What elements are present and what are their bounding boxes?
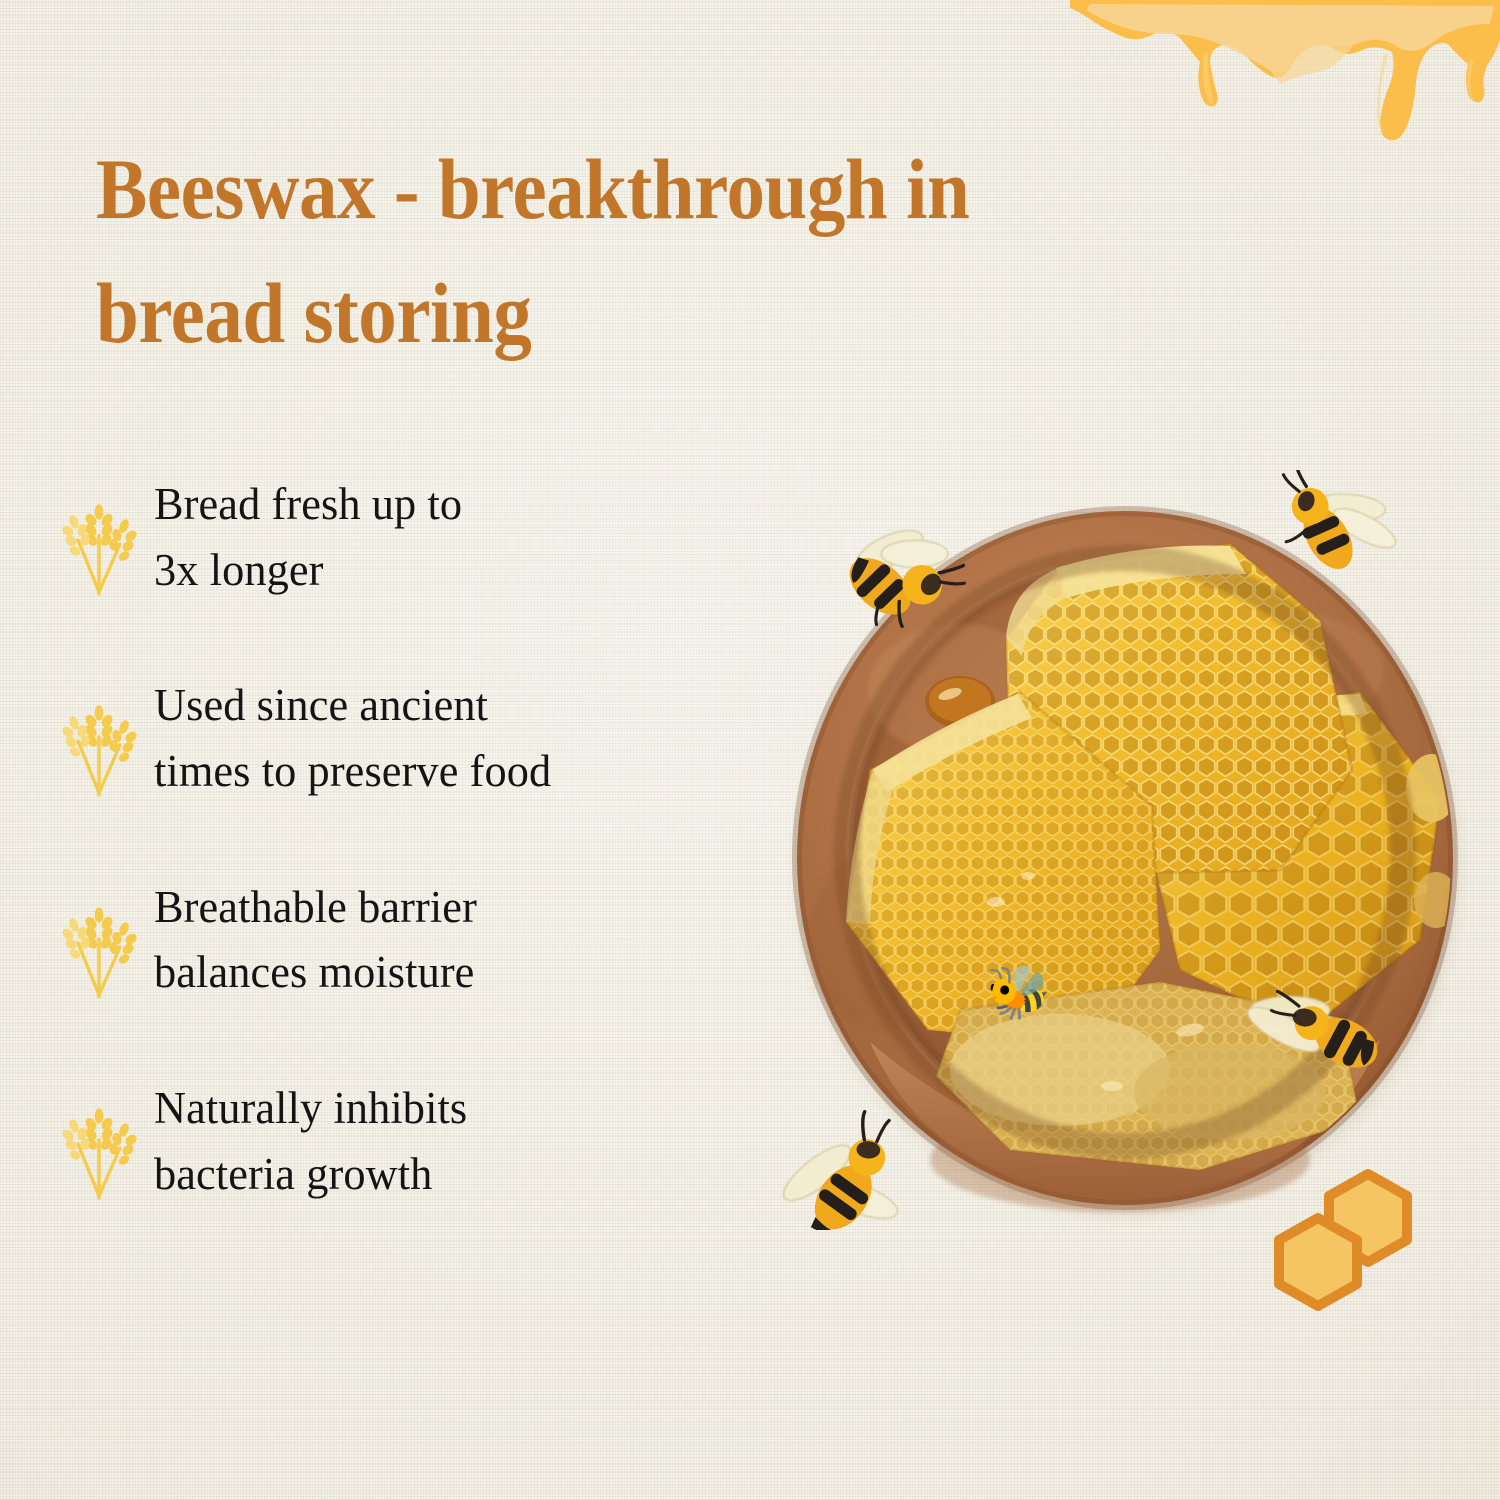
list-item-line: Naturally inhibits — [154, 1076, 467, 1142]
bee-emoji-icon: 🐝 — [986, 962, 1048, 1024]
list-item: Naturally inhibits bacteria growth — [60, 1074, 760, 1207]
list-item-line: Bread fresh up to — [154, 472, 462, 538]
list-item-line: 3x longer — [154, 538, 462, 604]
list-item-text: Breathable barrier balances moisture — [154, 873, 477, 1006]
wheat-icon — [60, 693, 138, 797]
list-item: Used since ancient times to preserve foo… — [60, 671, 760, 804]
wheat-icon — [60, 492, 138, 596]
list-item-line: Used since ancient — [154, 673, 551, 739]
honeycomb-in-wooden-bowl-photo — [760, 470, 1490, 1230]
poster-canvas: 🐝 Beeswax - breakthrough in bread storin… — [0, 0, 1500, 1500]
list-item-line: times to preserve food — [154, 739, 551, 805]
list-item-line: Breathable barrier — [154, 875, 477, 941]
list-item-text: Used since ancient times to preserve foo… — [154, 671, 551, 804]
list-item-text: Naturally inhibits bacteria growth — [154, 1074, 467, 1207]
list-item: Breathable barrier balances moisture — [60, 873, 760, 1006]
title-line-2: bread storing — [96, 252, 1107, 376]
wheat-icon — [60, 1096, 138, 1200]
honey-drip-icon — [1070, 0, 1500, 158]
honeycomb-hex-icon — [1272, 1168, 1452, 1318]
wheat-icon — [60, 895, 138, 999]
list-item-line: bacteria growth — [154, 1142, 467, 1208]
list-item-text: Bread fresh up to 3x longer — [154, 470, 462, 603]
bee-icon-bottom-left — [762, 1104, 926, 1230]
list-item: Bread fresh up to 3x longer — [60, 470, 760, 603]
title-line-1: Beeswax - breakthrough in — [96, 128, 1107, 252]
list-item-line: balances moisture — [154, 940, 477, 1006]
page-title: Beeswax - breakthrough in bread storing — [96, 128, 1107, 376]
benefits-list: Bread fresh up to 3x longer — [60, 470, 760, 1208]
